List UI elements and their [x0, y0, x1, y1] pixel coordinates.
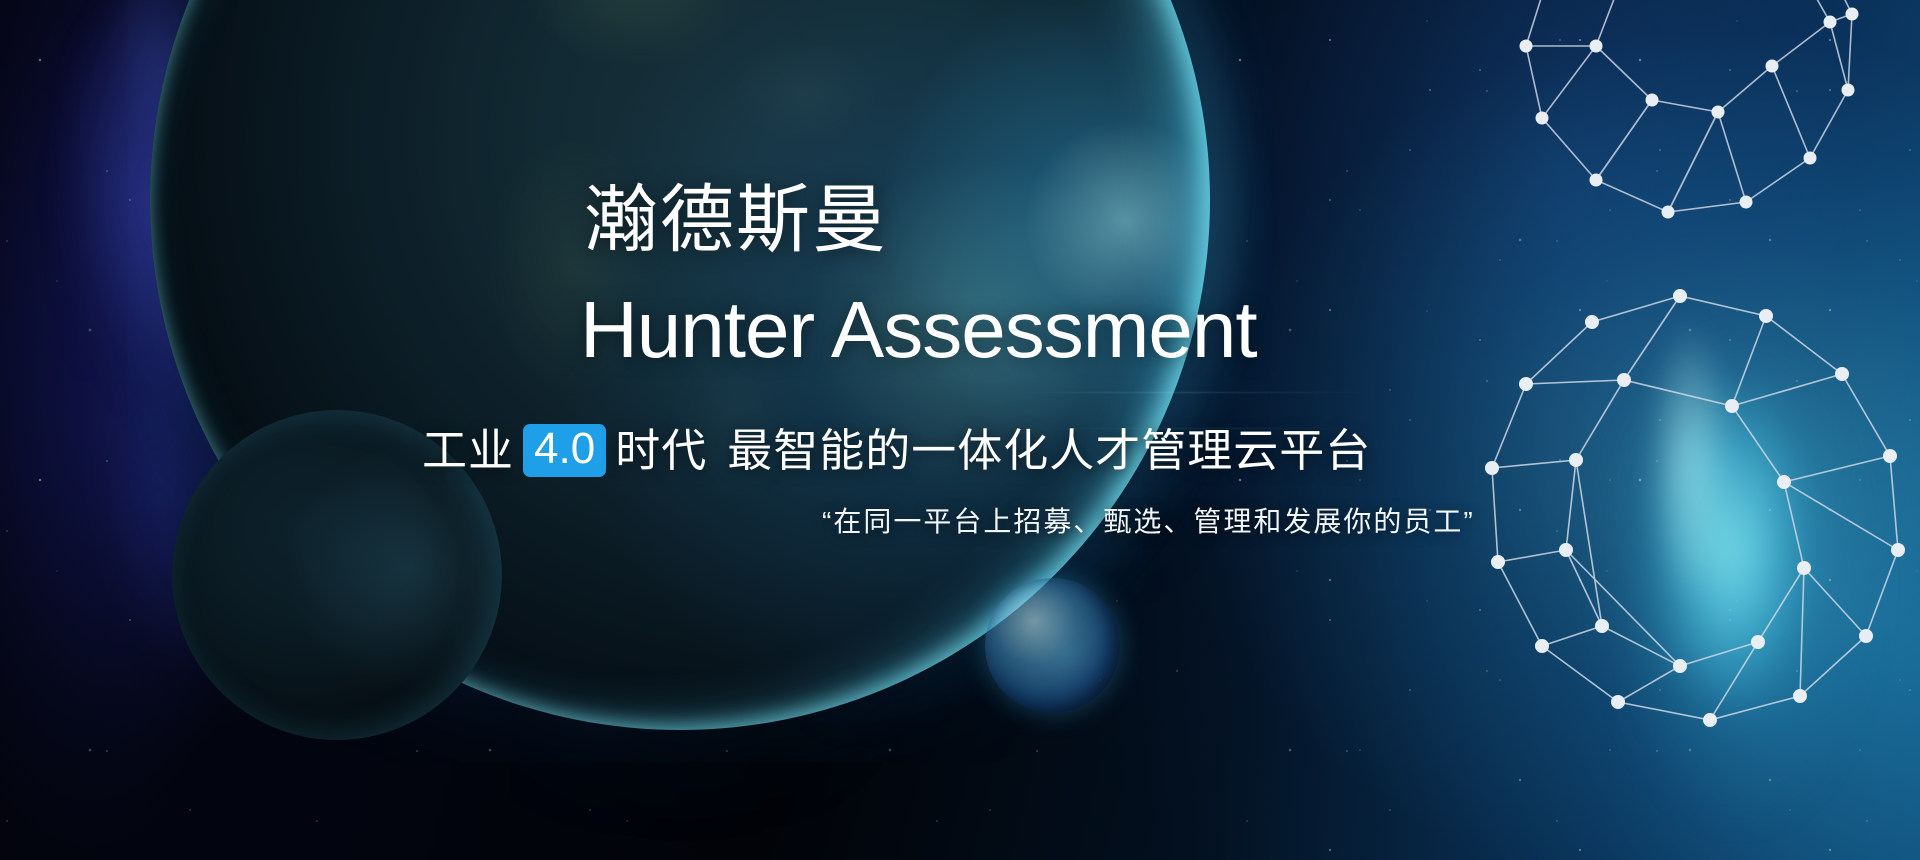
industry-version-badge: 4.0 — [523, 424, 606, 477]
hero-copy: 瀚德斯曼 Hunter Assessment 工业 4.0 时代 最智能的一体化… — [0, 0, 1920, 860]
tagline-after: 时代 — [615, 428, 707, 473]
tagline-before: 工业 — [422, 428, 514, 473]
tagline-quote: “在同一平台上招募、甄选、管理和发展你的员工” — [822, 508, 1475, 536]
brand-title-en: Hunter Assessment — [580, 290, 1257, 370]
tagline-rest: 最智能的一体化人才管理云平台 — [727, 428, 1371, 473]
brand-title-cn: 瀚德斯曼 — [584, 183, 888, 257]
tagline: 工业 4.0 时代 最智能的一体化人才管理云平台 — [422, 424, 1371, 477]
hero-banner: 瀚德斯曼 Hunter Assessment 工业 4.0 时代 最智能的一体化… — [0, 0, 1920, 860]
